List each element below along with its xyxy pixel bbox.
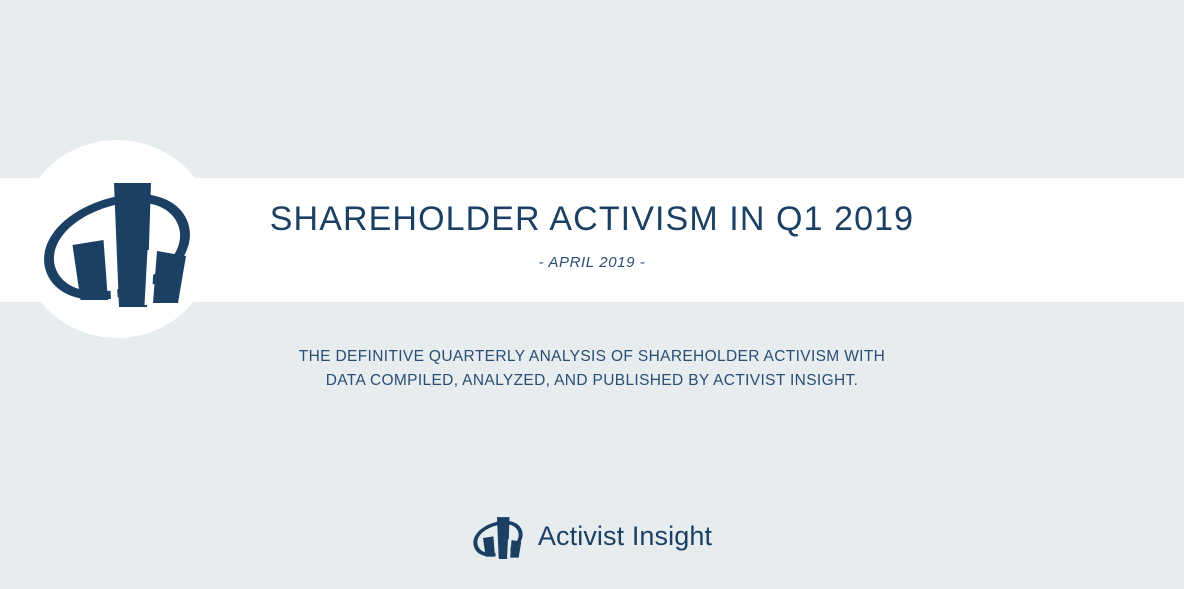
- brand-lockup: Activist Insight: [0, 511, 1184, 561]
- strapline-line-1: THE DEFINITIVE QUARTERLY ANALYSIS OF SHA…: [0, 345, 1184, 369]
- page-title: SHAREHOLDER ACTIVISM IN Q1 2019: [0, 196, 1184, 242]
- publication-date: - APRIL 2019 -: [0, 254, 1184, 272]
- strapline: THE DEFINITIVE QUARTERLY ANALYSIS OF SHA…: [0, 345, 1184, 393]
- brand-wordmark: Activist Insight: [538, 520, 712, 552]
- report-cover-page: SHAREHOLDER ACTIVISM IN Q1 2019 - APRIL …: [0, 0, 1184, 589]
- strapline-line-2: DATA COMPILED, ANALYZED, AND PUBLISHED B…: [0, 369, 1184, 393]
- activist-insight-bar-chart-swoosh-icon: [472, 511, 524, 561]
- title-block: SHAREHOLDER ACTIVISM IN Q1 2019 - APRIL …: [0, 196, 1184, 272]
